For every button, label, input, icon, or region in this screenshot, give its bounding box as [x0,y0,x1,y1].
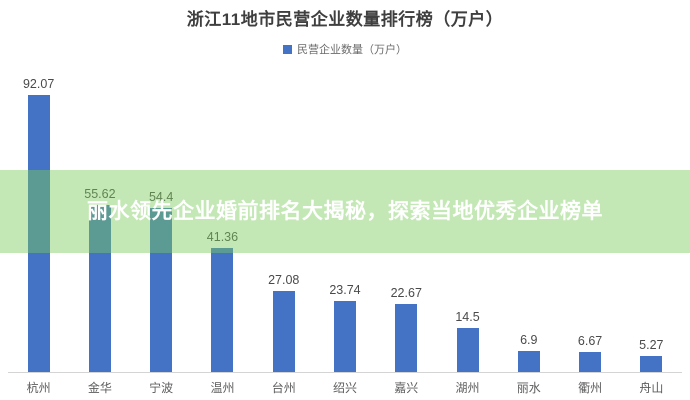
x-tick-label: 温州 [192,379,253,396]
x-tick-label: 金华 [69,379,130,396]
bar-value-label: 92.07 [23,77,54,91]
x-tick-label: 台州 [253,379,314,396]
bar[interactable] [640,356,662,372]
bar[interactable] [395,304,417,372]
bar[interactable] [211,248,233,372]
x-tick-label: 嘉兴 [376,379,437,396]
bar[interactable] [334,301,356,372]
bar[interactable] [579,352,601,372]
x-tick-label: 舟山 [621,379,682,396]
bar-value-label: 14.5 [455,310,479,324]
x-tick-label: 丽水 [498,379,559,396]
x-tick-label: 杭州 [8,379,69,396]
legend-item-label: 民营企业数量（万户） [297,41,407,57]
legend-color-swatch-icon [283,45,292,54]
bar[interactable] [457,328,479,372]
x-tick-label: 绍兴 [314,379,375,396]
bar[interactable] [273,291,295,372]
chart-title: 浙江11地市民营企业数量排行榜（万户） [0,5,690,30]
bar-value-label: 22.67 [391,286,422,300]
promo-overlay-banner: 丽水领先企业婚前排名大揭秘，探索当地优秀企业榜单 [0,170,690,253]
x-axis-tick-labels: 杭州金华宁波温州台州绍兴嘉兴湖州丽水衢州舟山 [8,374,682,400]
bar-chart-figure: 浙江11地市民营企业数量排行榜（万户） 民营企业数量（万户） 92.0755.6… [0,0,690,400]
chart-legend: 民营企业数量（万户） [0,41,690,57]
bar-value-label: 5.27 [639,338,663,352]
bar-value-label: 6.67 [578,334,602,348]
bar-value-label: 27.08 [268,273,299,287]
x-tick-label: 宁波 [131,379,192,396]
x-tick-label: 衢州 [559,379,620,396]
bar-value-label: 6.9 [520,333,537,347]
bar[interactable] [518,351,540,372]
bar-value-label: 23.74 [329,283,360,297]
x-axis-line [8,372,682,373]
x-tick-label: 湖州 [437,379,498,396]
promo-overlay-text: 丽水领先企业婚前排名大揭秘，探索当地优秀企业榜单 [35,197,655,227]
